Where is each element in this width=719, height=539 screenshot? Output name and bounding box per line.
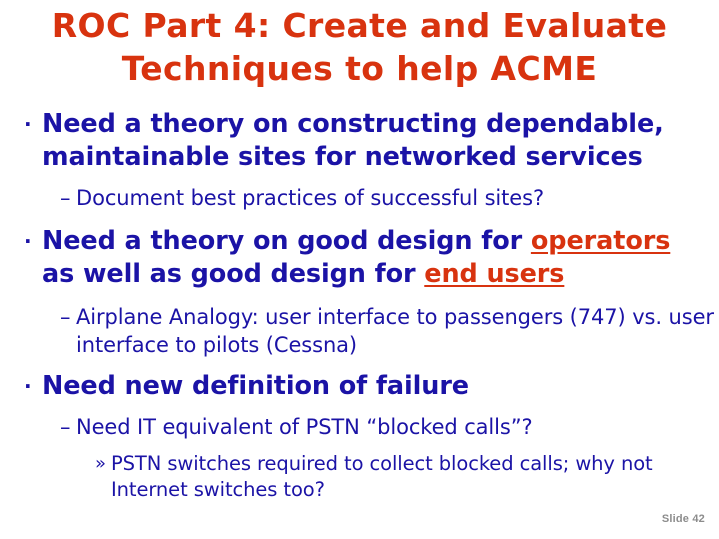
bullet-level2-3: – Need IT equivalent of PSTN “blocked ca… <box>60 413 719 441</box>
bullet-text: Need a theory on constructing dependable… <box>42 108 682 174</box>
title-line-1: ROC Part 4: Create and Evaluate <box>0 4 719 47</box>
page-title: ROC Part 4: Create and Evaluate Techniqu… <box>0 4 719 90</box>
slide-number-footer: Slide 42 <box>662 513 705 525</box>
bullet-text: PSTN switches required to collect blocke… <box>111 451 719 503</box>
bullet-level2-2: – Airplane Analogy: user interface to pa… <box>60 303 719 359</box>
bullet-dash-icon: – <box>60 303 76 331</box>
bullet-dot-icon: · <box>24 225 42 258</box>
emphasis-operators: operators <box>531 226 670 256</box>
bullet-guillemet-icon: » <box>95 451 111 477</box>
bullet-text-part-2: as well as good design for <box>42 259 424 289</box>
bullet-level1-2: · Need a theory on good design for opera… <box>24 225 719 291</box>
slide-body: · Need a theory on constructing dependab… <box>0 108 719 503</box>
bullet-text-part-1: Need a theory on good design for <box>42 226 531 256</box>
bullet-level3-1: » PSTN switches required to collect bloc… <box>95 451 719 503</box>
bullet-text: Document best practices of successful si… <box>76 184 719 212</box>
bullet-dash-icon: – <box>60 413 76 441</box>
title-line-2: Techniques to help ACME <box>0 47 719 90</box>
bullet-text: Need new definition of failure <box>42 370 682 403</box>
bullet-level1-1: · Need a theory on constructing dependab… <box>24 108 719 174</box>
bullet-level2-1: – Document best practices of successful … <box>60 184 719 212</box>
bullet-text: Need a theory on good design for operato… <box>42 225 682 291</box>
bullet-level1-3: · Need new definition of failure <box>24 370 719 403</box>
bullet-dash-icon: – <box>60 184 76 212</box>
bullet-dot-icon: · <box>24 370 42 403</box>
bullet-text: Need IT equivalent of PSTN “blocked call… <box>76 413 719 441</box>
bullet-dot-icon: · <box>24 108 42 141</box>
presentation-slide: ROC Part 4: Create and Evaluate Techniqu… <box>0 0 719 539</box>
emphasis-end-users: end users <box>424 259 564 289</box>
bullet-text: Airplane Analogy: user interface to pass… <box>76 303 719 359</box>
